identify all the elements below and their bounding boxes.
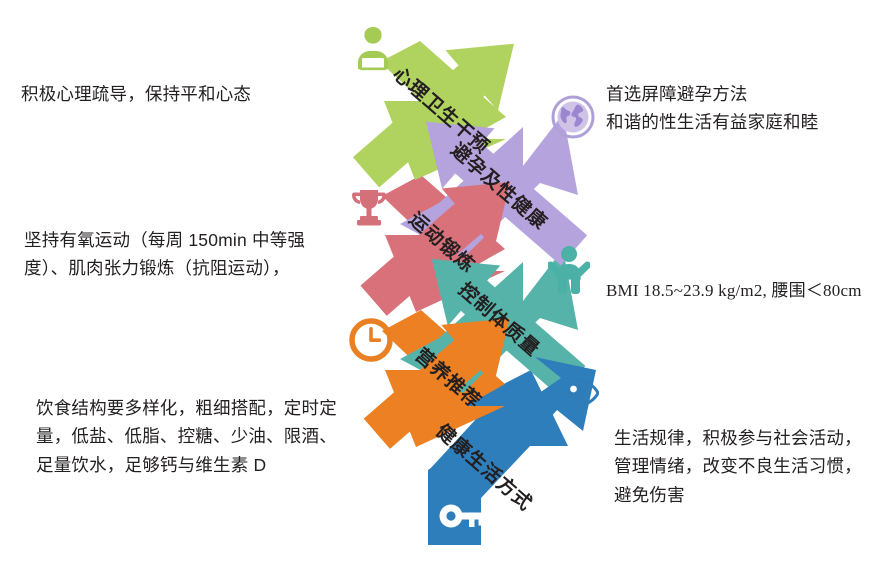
counselor-icon	[353, 25, 393, 71]
globe-icon	[551, 95, 595, 139]
note-bmi: BMI 18.5~23.9 kg/m2, 腰围＜80cm	[606, 277, 878, 305]
note-diet: 饮食结构要多样化，粗细搭配，定时定量，低盐、低脂、控糖、少油、限酒、足量饮水，足…	[36, 394, 354, 479]
person-arms-up-icon	[548, 245, 590, 295]
trophy-icon	[347, 186, 391, 230]
note-lifestyle: 生活规律，积极参与社会活动，管理情绪，改变不良生活习惯，避免伤害	[614, 424, 864, 509]
key-icon	[438, 500, 486, 534]
note-psych: 积极心理疏导，保持平和心态	[21, 80, 321, 108]
infographic-canvas: 心理卫生干预 避孕及性健康 运动锻炼 控制体质量 营养推荐 健康生活方式	[0, 0, 883, 570]
clock-icon	[349, 318, 393, 362]
note-contraception: 首选屏障避孕方法 和谐的性生活有益家庭和睦	[606, 80, 883, 137]
note-exercise: 坚持有氧运动（每周 150min 中等强度）、肌肉张力锻炼（抗阻运动），	[24, 226, 336, 283]
eye-icon	[555, 378, 599, 408]
